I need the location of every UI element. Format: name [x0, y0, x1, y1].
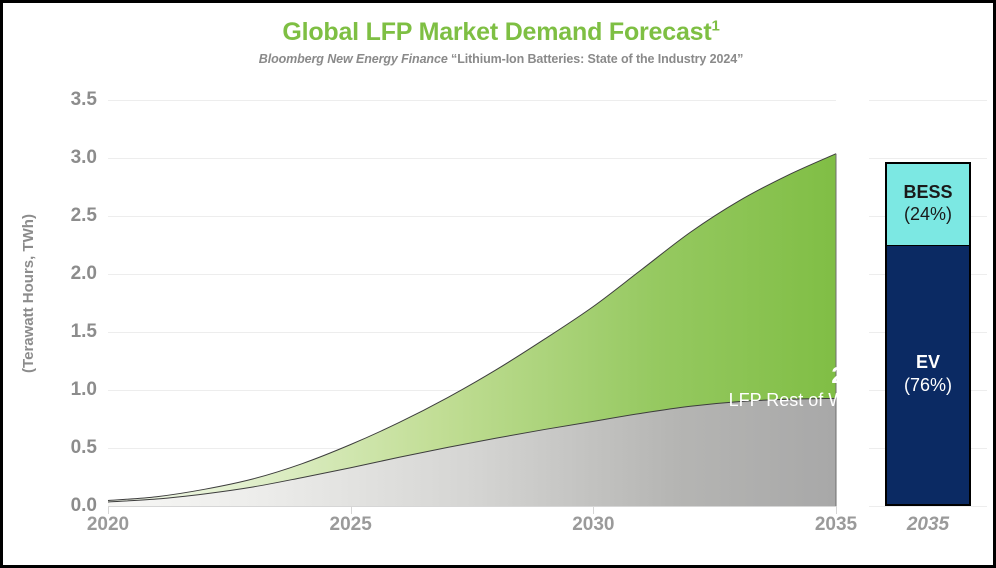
title-footnote-marker: 1	[712, 18, 720, 35]
subtitle-quote: “Lithium-Ion Batteries: State of the Ind…	[451, 52, 743, 66]
chart-slide: Global LFP Market Demand Forecast1 Bloom…	[0, 0, 996, 568]
china-name: LFP China (31%)	[648, 545, 928, 566]
bar-segment-ev[interactable]: EV (76%)	[887, 246, 969, 504]
bar-x-tick-label: 2035	[907, 514, 949, 536]
bar-gridline	[869, 158, 987, 159]
page-title: Global LFP Market Demand Forecast1	[3, 19, 996, 47]
row-value: 2.109	[831, 362, 889, 388]
ev-percent: (76%)	[904, 374, 952, 397]
bess-label: BESS	[903, 182, 952, 204]
x-tick-mark	[593, 506, 594, 514]
stacked-area-chart	[108, 100, 836, 506]
bess-percent: (24%)	[904, 203, 952, 226]
bar-gridline	[869, 506, 987, 507]
plot-area: 2.109 TWh LFP Rest of World (69%) 0.928 …	[108, 100, 836, 506]
bar-gridline	[869, 100, 987, 101]
gridline	[108, 506, 836, 507]
x-tick-label: 2020	[87, 514, 129, 536]
y-axis-title: (Terawatt Hours, TWh)	[17, 93, 39, 493]
chart-title-text: Global LFP Market Demand Forecast	[282, 18, 711, 46]
y-tick-label: 3.0	[45, 147, 97, 169]
ev-label: EV	[916, 352, 940, 374]
x-tick-mark	[351, 506, 352, 514]
x-tick-label: 2035	[815, 514, 857, 536]
subtitle-source: Bloomberg New Energy Finance	[259, 52, 448, 66]
y-tick-label: 2.0	[45, 263, 97, 285]
x-tick-label: 2025	[330, 514, 372, 536]
x-tick-mark	[108, 506, 109, 514]
chart-subtitle: Bloomberg New Energy Finance “Lithium-Io…	[3, 52, 996, 66]
y-tick-label: 1.0	[45, 379, 97, 401]
x-tick-mark	[836, 506, 837, 514]
bar-segment-bess[interactable]: BESS (24%)	[887, 164, 969, 246]
side-stacked-bar: BESS (24%) EV (76%)	[885, 162, 971, 506]
y-tick-label: 3.5	[45, 89, 97, 111]
x-tick-label: 2030	[572, 514, 614, 536]
label-china: 0.928 TWh LFP China (31%)	[648, 517, 928, 566]
y-tick-label: 0.5	[45, 437, 97, 459]
y-axis-ticks: 0.00.51.01.52.02.53.03.5	[45, 100, 97, 506]
y-tick-label: 1.5	[45, 321, 97, 343]
title-block: Global LFP Market Demand Forecast1 Bloom…	[3, 19, 996, 66]
y-axis-title-text: (Terawatt Hours, TWh)	[20, 214, 37, 373]
y-tick-label: 2.5	[45, 205, 97, 227]
